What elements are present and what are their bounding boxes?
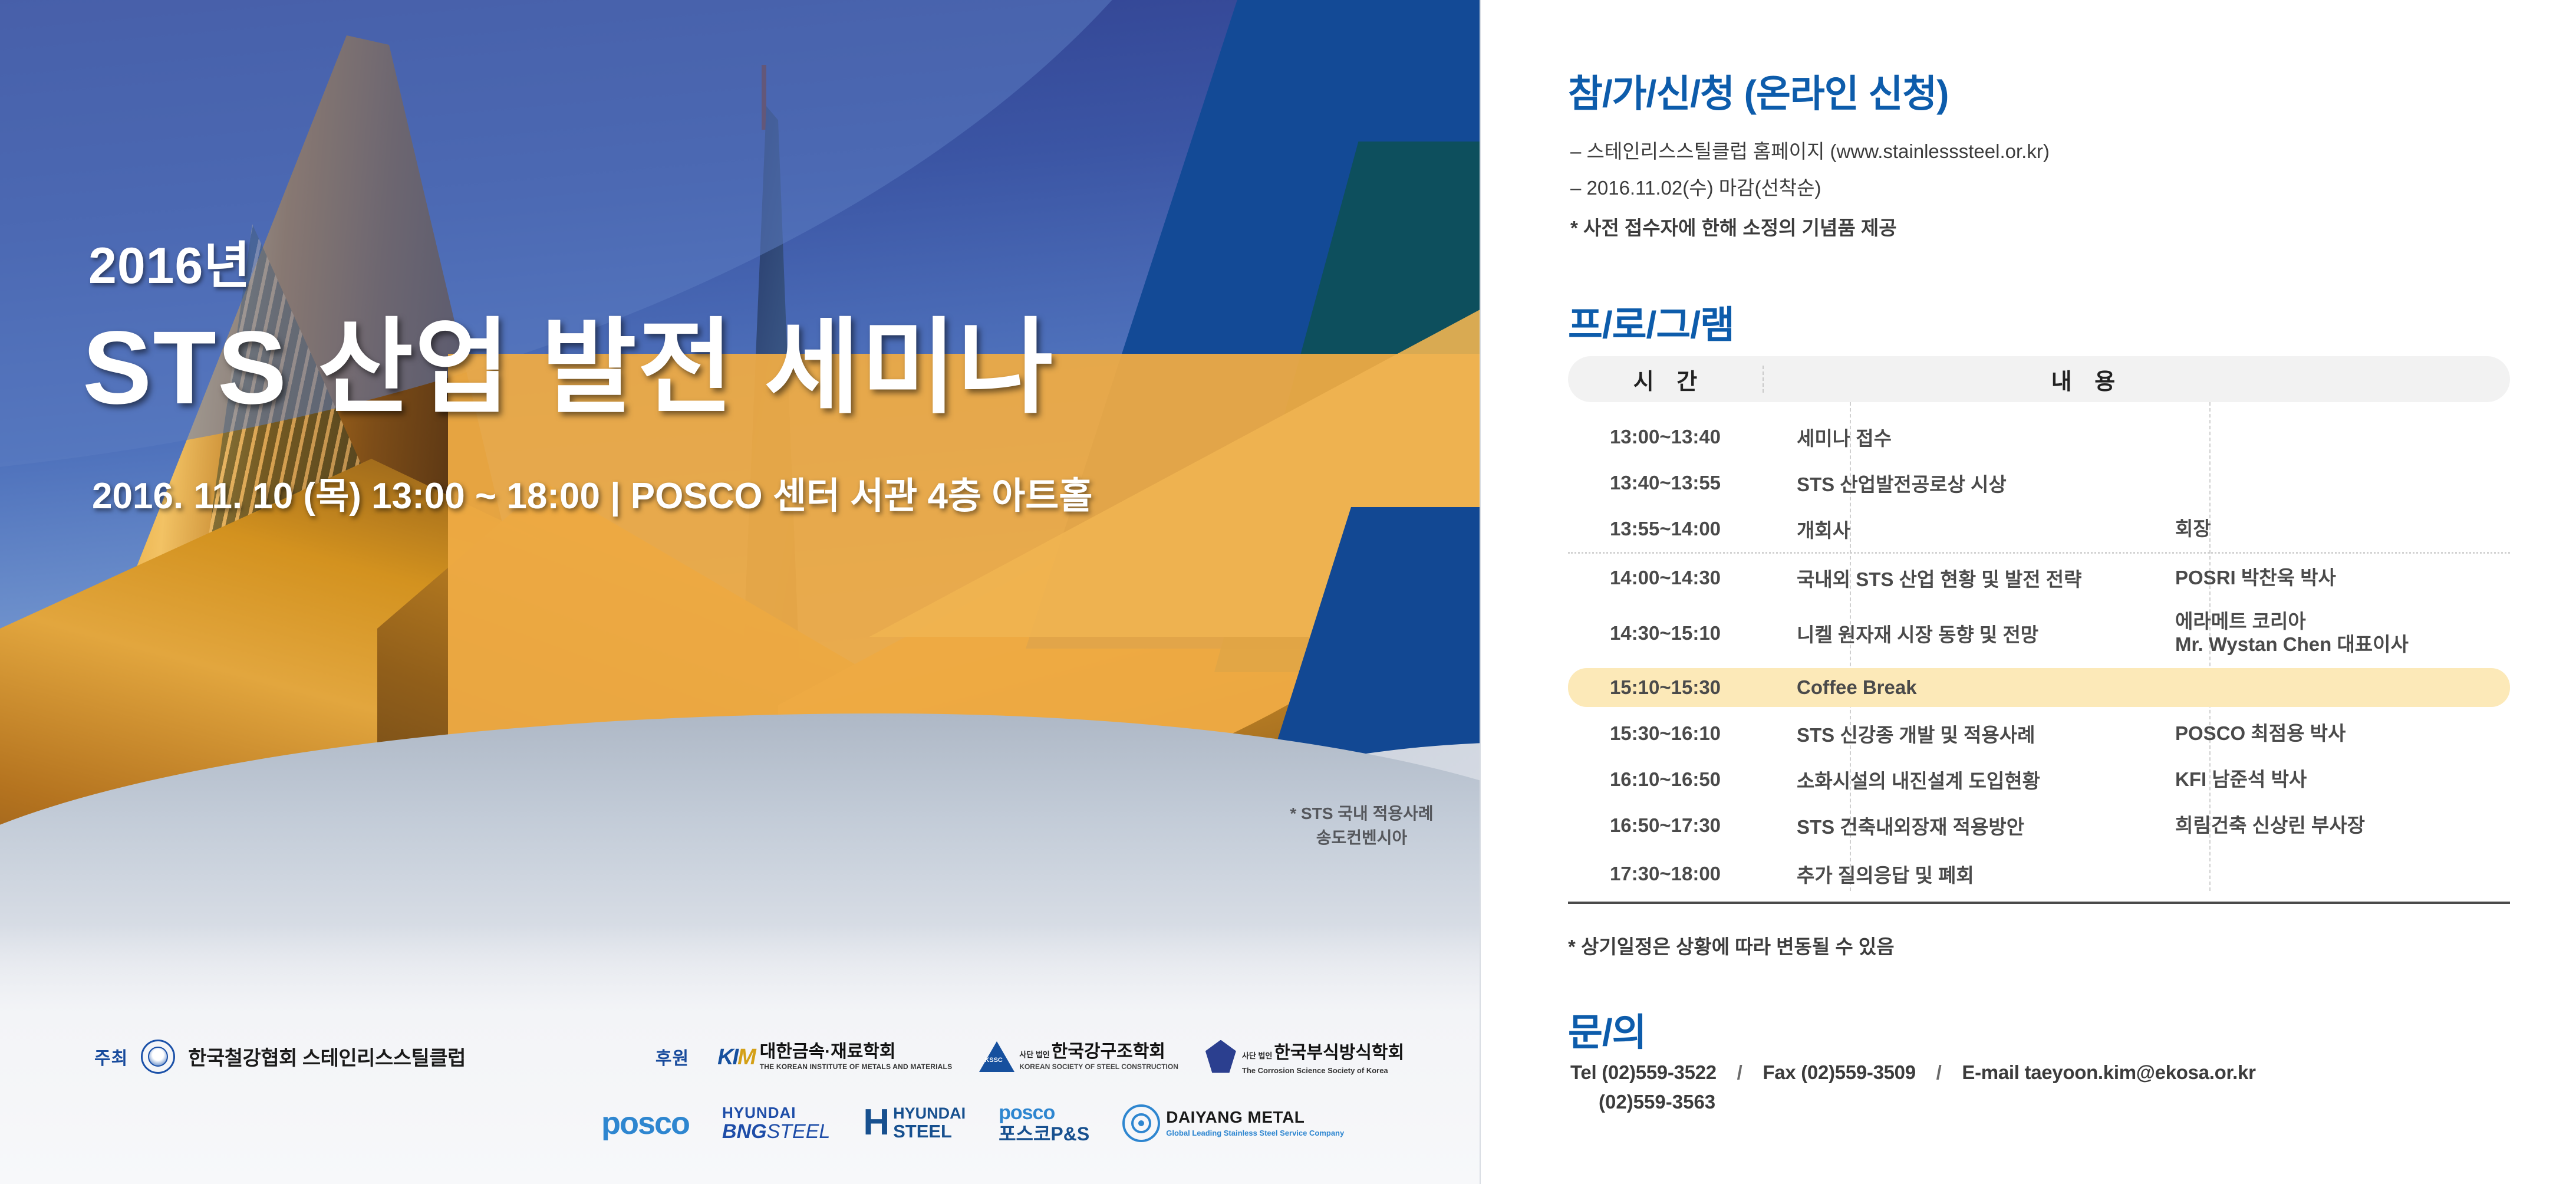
- bng-hyundai-text: HYUNDAI: [722, 1104, 796, 1121]
- contact-separator-1: /: [1737, 1061, 1742, 1084]
- apply-note: * 사전 접수자에 한해 소정의 기념품 제공: [1570, 212, 1897, 241]
- row-speaker: 희림건축 신상린 부사장: [2162, 814, 2510, 837]
- program-table: 시 간 내 용 13:00~13:40 세미나 접수 13:40~13:55 S…: [1568, 356, 2510, 959]
- table-row: 13:00~13:40 세미나 접수: [1568, 420, 2510, 454]
- daiyang-tagline: Global Leading Stainless Steel Service C…: [1166, 1129, 1344, 1139]
- cssk-gem-icon: [1205, 1040, 1236, 1073]
- hyundai-h-icon: H: [863, 1107, 890, 1139]
- tel-value: (02)559-3522: [1602, 1061, 1717, 1083]
- row-time: 13:40~13:55: [1568, 472, 1763, 494]
- table-row: 14:00~14:30 국내외 STS 산업 현황 및 발전 전략 POSRI …: [1568, 561, 2510, 595]
- bng-steel-text: STEEL: [767, 1120, 831, 1143]
- row-speaker-org: 에라메트 코리아: [2175, 610, 2306, 632]
- sponsor-label: 후원: [655, 1044, 689, 1070]
- row-topic: STS 산업발전공로상 시상: [1763, 469, 2162, 497]
- photo-caption-line1: * STS 국내 적용사례: [1267, 802, 1456, 826]
- kim-name-ko: 대한금속·재료학회: [760, 1042, 896, 1061]
- bng-bng-text: BNG: [722, 1120, 767, 1143]
- row-time: 14:00~14:30: [1568, 567, 1763, 589]
- program-table-body: 13:00~13:40 세미나 접수 13:40~13:55 STS 산업발전공…: [1568, 402, 2510, 891]
- row-time: 14:30~15:10: [1568, 622, 1763, 644]
- contact-line-primary: Tel (02)559-3522 / Fax (02)559-3509 / E-…: [1570, 1061, 2543, 1084]
- poster-title: STS 산업 발전 세미나: [83, 283, 1054, 433]
- table-row: 15:30~16:10 STS 신강종 개발 및 적용사례 POSCO 최점용 …: [1568, 716, 2510, 751]
- table-row-highlighted: 15:10~15:30 Coffee Break: [1568, 668, 2510, 707]
- poster-page: 2016년 STS 산업 발전 세미나 2016. 11. 10 (목) 13:…: [0, 0, 2576, 1184]
- row-time: 13:55~14:00: [1568, 518, 1763, 540]
- section-separator: [1568, 552, 2510, 555]
- row-topic: STS 신강종 개발 및 적용사례: [1763, 719, 2162, 748]
- column-header-time: 시 간: [1568, 363, 1763, 396]
- sponsors-area: 주최 한국철강협회 스테인리스스틸클럽 후원 KIM 대한금속·재료학회 THE…: [0, 1026, 1480, 1184]
- bng-steel-logo: HYUNDAI BNGSTEEL: [722, 1105, 830, 1142]
- posco-logo: posco: [601, 1105, 689, 1142]
- kim-mark-icon: KIM: [717, 1045, 755, 1070]
- row-topic: 세미나 접수: [1763, 423, 2162, 451]
- company-sponsor-logos: posco HYUNDAI BNGSTEEL H HYUNDAI STEEL p…: [601, 1103, 1344, 1143]
- kim-logo: KIM 대한금속·재료학회 THE KOREAN INSTITUTE OF ME…: [717, 1043, 952, 1070]
- row-speaker: 회장: [2162, 518, 2510, 541]
- hyundai-steel-line2: STEEL: [893, 1122, 966, 1140]
- daiyang-metal-logo: DAIYANG METAL Global Leading Stainless S…: [1122, 1104, 1344, 1142]
- steel-association-seal-icon: [141, 1040, 175, 1074]
- apply-bullets: – 스테인리스스틸클럽 홈페이지 (www.stainlesssteel.or.…: [1570, 136, 2514, 209]
- hyundai-steel-logo: H HYUNDAI STEEL: [863, 1106, 966, 1140]
- fax-value: (02)559-3509: [1801, 1061, 1916, 1083]
- host-row: 주최 한국철강협회 스테인리스스틸클럽 후원 KIM 대한금속·재료학회 THE…: [94, 1038, 1404, 1075]
- host-name: 한국철강협회 스테인리스스틸클럽: [188, 1042, 466, 1071]
- row-speaker: POSCO 최점용 박사: [2162, 722, 2510, 745]
- photo-caption-line2: 송도컨벤시아: [1267, 826, 1456, 850]
- kssc-prefix: 사단 법인: [1019, 1050, 1049, 1059]
- table-row: 16:50~17:30 STS 건축내외장재 적용방안 희림건축 신상린 부사장: [1568, 808, 2510, 843]
- cssk-name-ko: 한국부식방식학회: [1274, 1043, 1404, 1063]
- row-topic: 국내외 STS 산업 현황 및 발전 전략: [1763, 564, 2162, 592]
- tel-label: Tel: [1570, 1061, 1596, 1083]
- poster-artwork: 2016년 STS 산업 발전 세미나 2016. 11. 10 (목) 13:…: [0, 0, 1480, 1184]
- table-row: 13:40~13:55 STS 산업발전공로상 시상: [1568, 466, 2510, 500]
- row-speaker: POSRI 박찬욱 박사: [2162, 567, 2510, 590]
- column-header-content: 내 용: [1763, 363, 2510, 396]
- table-row: 13:55~14:00 개회사 회장: [1568, 512, 2510, 546]
- table-row: 16:10~16:50 소화시설의 내진설계 도입현황 KFI 남준석 박사: [1568, 762, 2510, 797]
- program-footnote: * 상기일정은 상황에 따라 변동될 수 있음: [1568, 931, 2510, 959]
- row-speaker: 에라메트 코리아 Mr. Wystan Chen 대표이사: [2162, 610, 2510, 656]
- email-value[interactable]: taeyoon.kim@ekosa.or.kr: [2025, 1061, 2256, 1083]
- kssc-name-en: KOREAN SOCIETY OF STEEL CONSTRUCTION: [1019, 1063, 1178, 1070]
- poster-subtitle: 2016. 11. 10 (목) 13:00 ~ 18:00 | POSCO 센…: [92, 466, 1092, 519]
- cssk-prefix: 사단 법인: [1242, 1051, 1272, 1060]
- cssk-logo: 사단 법인한국부식방식학회 The Corrosion Science Soci…: [1205, 1038, 1404, 1075]
- academic-sponsor-logos: KIM 대한금속·재료학회 THE KOREAN INSTITUTE OF ME…: [717, 1038, 1404, 1075]
- row-topic: 개회사: [1763, 515, 2162, 543]
- contact-separator-2: /: [1936, 1061, 1942, 1084]
- program-section-heading: 프/로/그/램: [1568, 295, 1734, 349]
- kssc-name-ko: 한국강구조학회: [1052, 1042, 1165, 1061]
- row-topic: 추가 질의응답 및 폐회: [1763, 860, 2162, 888]
- daiyang-target-icon: [1122, 1104, 1160, 1142]
- email-label: E-mail: [1962, 1061, 2019, 1083]
- row-topic: 니켈 원자재 시장 동향 및 전망: [1763, 619, 2162, 647]
- posco-pns-line1: posco: [999, 1101, 1055, 1124]
- photo-caption: * STS 국내 적용사례 송도컨벤시아: [1267, 802, 1456, 850]
- contact-section-heading: 문/의: [1568, 1002, 1646, 1057]
- contact-details: Tel (02)559-3522 / Fax (02)559-3509 / E-…: [1570, 1061, 2543, 1113]
- apply-bullet-homepage: – 스테인리스스틸클럽 홈페이지 (www.stainlesssteel.or.…: [1570, 136, 2514, 164]
- posco-pns-logo: posco 포스코P&S: [999, 1103, 1089, 1143]
- row-topic: 소화시설의 내진설계 도입현황: [1763, 765, 2162, 794]
- daiyang-name: DAIYANG METAL: [1166, 1108, 1305, 1126]
- row-topic: STS 건축내외장재 적용방안: [1763, 811, 2162, 840]
- row-speaker-person: Mr. Wystan Chen 대표이사: [2175, 633, 2510, 656]
- row-time: 16:50~17:30: [1568, 814, 1763, 837]
- kssc-triangle-icon: [979, 1041, 1014, 1072]
- program-table-header: 시 간 내 용: [1568, 356, 2510, 402]
- row-time: 16:10~16:50: [1568, 768, 1763, 791]
- tel-secondary-value: (02)559-3563: [1599, 1091, 2543, 1113]
- hyundai-steel-line1: HYUNDAI: [893, 1104, 966, 1122]
- posco-pns-line2: 포스코P&S: [999, 1124, 1089, 1143]
- cssk-name-en: The Corrosion Science Society of Korea: [1242, 1066, 1404, 1075]
- table-row: 17:30~18:00 추가 질의응답 및 폐회: [1568, 857, 2510, 891]
- table-row: 14:30~15:10 니켈 원자재 시장 동향 및 전망 에라메트 코리아 M…: [1568, 608, 2510, 659]
- row-topic: Coffee Break: [1763, 676, 2162, 699]
- row-time: 15:30~16:10: [1568, 722, 1763, 745]
- row-time: 13:00~13:40: [1568, 426, 1763, 448]
- kssc-logo: 사단 법인한국강구조학회 KOREAN SOCIETY OF STEEL CON…: [979, 1041, 1178, 1072]
- table-bottom-rule: [1568, 902, 2510, 904]
- apply-section-heading: 참/가/신/청 (온라인 신청): [1568, 64, 1948, 118]
- header-divider: [1763, 366, 1764, 393]
- row-time: 15:10~15:30: [1568, 676, 1763, 699]
- row-speaker: KFI 남준석 박사: [2162, 768, 2510, 791]
- row-time: 17:30~18:00: [1568, 863, 1763, 885]
- fax-label: Fax: [1763, 1061, 1796, 1083]
- info-panel: 참/가/신/청 (온라인 신청) – 스테인리스스틸클럽 홈페이지 (www.s…: [1481, 0, 2576, 1184]
- kim-name-en: THE KOREAN INSTITUTE OF METALS AND MATER…: [760, 1063, 953, 1070]
- apply-bullet-deadline: – 2016.11.02(수) 마감(선착순): [1570, 172, 2514, 200]
- host-label: 주최: [94, 1044, 128, 1070]
